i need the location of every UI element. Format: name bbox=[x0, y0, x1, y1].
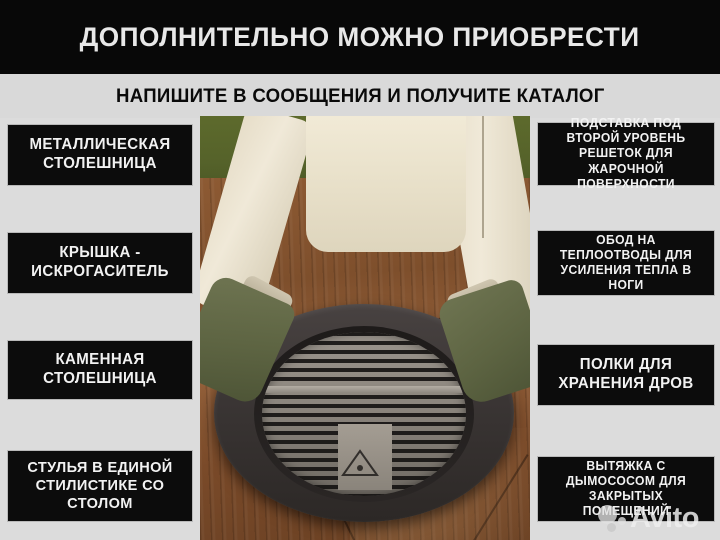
feature-label-stone-tabletop: КАМЕННАЯ СТОЛЕШНИЦА bbox=[7, 340, 193, 400]
feature-label-text: ПОЛКИ ДЛЯ ХРАНЕНИЯ ДРОВ bbox=[546, 356, 705, 394]
feature-label-text: КАМЕННАЯ СТОЛЕШНИЦА bbox=[17, 351, 184, 389]
feature-label-second-level-grate-stand: ПОДСТАВКА ПОД ВТОРОЙ УРОВЕНЬ РЕШЕТОК ДЛЯ… bbox=[537, 122, 715, 186]
feature-label-text: МЕТАЛЛИЧЕСКАЯ СТОЛЕШНИЦА bbox=[17, 136, 184, 174]
feature-label-text: СТУЛЬЯ В ЕДИНОЙ СТИЛИСТИКЕ СО СТОЛОМ bbox=[17, 459, 184, 514]
headline-text: ДОПОЛНИТЕЛЬНО МОЖНО ПРИОБРЕСТИ bbox=[80, 24, 640, 51]
headline-banner: ДОПОЛНИТЕЛЬНО МОЖНО ПРИОБРЕСТИ bbox=[0, 0, 720, 74]
person-torso bbox=[306, 116, 466, 252]
feature-label-text: ВЫТЯЖКА С ДЫМОСОСОМ ДЛЯ ЗАКРЫТЫХ ПОМЕЩЕН… bbox=[546, 459, 705, 520]
subheadline-banner: НАПИШИТЕ В СООБЩЕНИЯ И ПОЛУЧИТЕ КАТАЛОГ bbox=[0, 74, 720, 118]
feature-label-metal-tabletop: МЕТАЛЛИЧЕСКАЯ СТОЛЕШНИЦА bbox=[7, 124, 193, 186]
feature-label-spark-arrestor-lid: КРЫШКА - ИСКРОГАСИТЕЛЬ bbox=[7, 232, 193, 294]
jacket-seam bbox=[482, 116, 484, 238]
feature-label-smoke-extractor-hood: ВЫТЯЖКА С ДЫМОСОСОМ ДЛЯ ЗАКРЫТЫХ ПОМЕЩЕН… bbox=[537, 456, 715, 522]
feature-label-heat-rim: ОБОД НА ТЕПЛООТВОДЫ ДЛЯ УСИЛЕНИЯ ТЕПЛА В… bbox=[537, 230, 715, 296]
promo-poster: ДОПОЛНИТЕЛЬНО МОЖНО ПРИОБРЕСТИ НАПИШИТЕ … bbox=[0, 0, 720, 540]
feature-label-firewood-shelves: ПОЛКИ ДЛЯ ХРАНЕНИЯ ДРОВ bbox=[537, 344, 715, 406]
feature-label-text: КРЫШКА - ИСКРОГАСИТЕЛЬ bbox=[17, 244, 184, 282]
feature-label-text: ПОДСТАВКА ПОД ВТОРОЙ УРОВЕНЬ РЕШЕТОК ДЛЯ… bbox=[546, 116, 705, 192]
feature-label-matching-chairs: СТУЛЬЯ В ЕДИНОЙ СТИЛИСТИКЕ СО СТОЛОМ bbox=[7, 450, 193, 522]
product-photo bbox=[200, 116, 530, 540]
grill-grate bbox=[262, 332, 466, 496]
subheadline-text: НАПИШИТЕ В СООБЩЕНИЯ И ПОЛУЧИТЕ КАТАЛОГ bbox=[116, 87, 605, 106]
warning-triangle-icon bbox=[340, 448, 380, 478]
grate-center-bar bbox=[262, 386, 466, 393]
feature-label-text: ОБОД НА ТЕПЛООТВОДЫ ДЛЯ УСИЛЕНИЯ ТЕПЛА В… bbox=[546, 233, 705, 294]
